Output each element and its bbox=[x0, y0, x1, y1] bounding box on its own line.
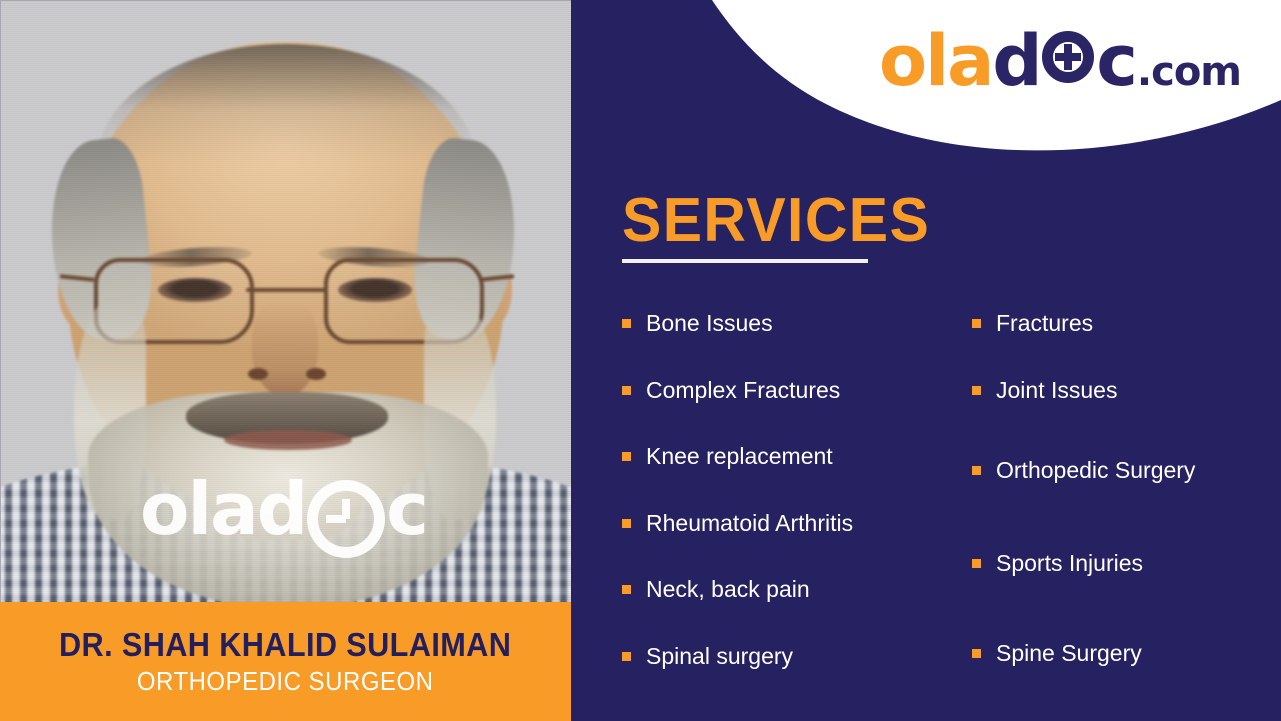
service-label: Spinal surgery bbox=[646, 643, 793, 671]
service-label: Rheumatoid Arthritis bbox=[646, 510, 853, 538]
service-item: Joint Issues bbox=[972, 377, 1272, 405]
service-item: Spine Surgery bbox=[972, 640, 1272, 668]
logo-o-with-plus-icon bbox=[1042, 31, 1094, 83]
service-item: Fractures bbox=[972, 310, 1272, 338]
logo-text-c: c bbox=[1096, 26, 1136, 96]
watermark-text-c: c bbox=[386, 473, 427, 545]
services-heading-underline bbox=[622, 259, 868, 263]
oladoc-logo[interactable]: ola d c .com bbox=[879, 26, 1241, 96]
bullet-square-icon bbox=[622, 319, 631, 328]
logo-text-ola: ola bbox=[879, 26, 992, 96]
bullet-square-icon bbox=[972, 649, 981, 658]
portrait-lips bbox=[224, 430, 352, 450]
service-label: Fractures bbox=[996, 310, 1093, 338]
eyeglass-bridge bbox=[246, 288, 328, 292]
service-label: Bone Issues bbox=[646, 310, 773, 338]
services-list-right-column: Fractures Joint Issues Orthopedic Surger… bbox=[972, 310, 1272, 668]
logo-text-dotcom: .com bbox=[1137, 52, 1241, 92]
doctor-profile-banner: ola d c DR. SHAH KHALID SULAIMAN ORTHOPE… bbox=[0, 0, 1281, 721]
service-item: Bone Issues bbox=[622, 310, 952, 338]
service-label: Sports Injuries bbox=[996, 550, 1143, 578]
service-item: Rheumatoid Arthritis bbox=[622, 510, 952, 538]
services-list-left-column: Bone Issues Complex Fractures Knee repla… bbox=[622, 310, 952, 710]
portrait-nostril-right bbox=[306, 368, 326, 380]
service-label: Orthopedic Surgery bbox=[996, 457, 1195, 485]
bullet-square-icon bbox=[622, 386, 631, 395]
bullet-square-icon bbox=[622, 585, 631, 594]
bullet-square-icon bbox=[622, 519, 631, 528]
logo-text-d: d bbox=[992, 26, 1040, 96]
doctor-photo-panel: ola d c bbox=[0, 0, 571, 602]
bullet-square-icon bbox=[622, 652, 631, 661]
doctor-name-bar: DR. SHAH KHALID SULAIMAN ORTHOPEDIC SURG… bbox=[0, 602, 571, 721]
service-item: Sports Injuries bbox=[972, 550, 1272, 578]
watermark-o-with-plus-icon bbox=[307, 480, 385, 558]
service-item: Complex Fractures bbox=[622, 377, 952, 405]
service-item: Knee replacement bbox=[622, 443, 952, 471]
service-item: Neck, back pain bbox=[622, 576, 952, 604]
portrait-hairline bbox=[96, 44, 476, 164]
service-label: Spine Surgery bbox=[996, 640, 1142, 668]
service-item: Orthopedic Surgery bbox=[972, 457, 1272, 485]
service-label: Joint Issues bbox=[996, 377, 1117, 405]
doctor-specialty: ORTHOPEDIC SURGEON bbox=[137, 667, 434, 696]
bullet-square-icon bbox=[972, 559, 981, 568]
service-label: Complex Fractures bbox=[646, 377, 840, 405]
portrait-nostril-left bbox=[248, 368, 268, 380]
watermark-text-d: d bbox=[257, 473, 307, 545]
oladoc-photo-watermark: ola d c bbox=[140, 470, 427, 548]
services-heading: SERVICES bbox=[622, 190, 930, 252]
doctor-name: DR. SHAH KHALID SULAIMAN bbox=[59, 627, 511, 663]
bullet-square-icon bbox=[972, 386, 981, 395]
watermark-text-ola: ola bbox=[140, 473, 257, 545]
bullet-square-icon bbox=[972, 466, 981, 475]
service-label: Neck, back pain bbox=[646, 576, 810, 604]
service-label: Knee replacement bbox=[646, 443, 833, 471]
bullet-square-icon bbox=[622, 452, 631, 461]
service-item: Spinal surgery bbox=[622, 643, 952, 671]
bullet-square-icon bbox=[972, 319, 981, 328]
